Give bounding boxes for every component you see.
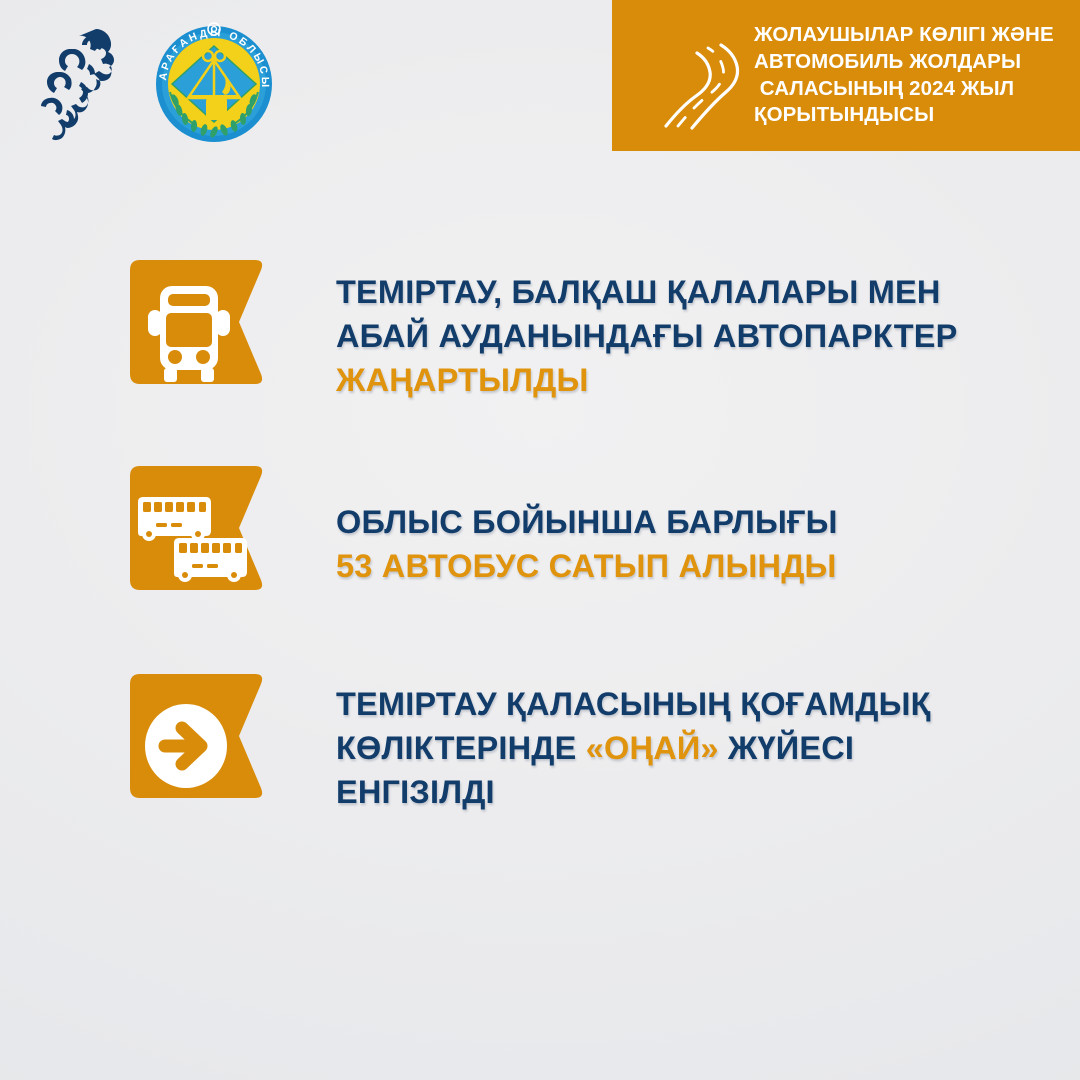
badge-shape [120,672,275,820]
block3-line-2: КӨЛІКТЕРІНДЕ «ОҢАЙ» ЖҮЙЕСІ [336,726,931,770]
stat-block-text: ОБЛЫС БОЙЫНША БАРЛЫҒЫ 53 АВТОБУС САТЫП А… [336,462,838,588]
badge-bus-front [120,258,275,406]
block3-line-2-highlight: «ОҢАЙ» [586,730,719,766]
stat-block-text: ТЕМІРТАУ ҚАЛАСЫНЫҢ ҚОҒАМДЫҚ КӨЛІКТЕРІНДЕ… [336,670,931,815]
logo-group: ҚАРАҒАНДЫ ОБЛЫСЫ [34,18,284,148]
infographic-poster: ҚАРАҒАНДЫ ОБЛЫСЫ ЖОЛАУШЫЛАР КӨЛІГІ ЖӘНЕ … [0,0,1080,1080]
arrow-right-circle-icon [145,704,227,788]
content-blocks: ТЕМІРТАУ, БАЛҚАШ ҚАЛАЛАРЫ МЕН АБАЙ АУДАН… [0,256,1080,880]
badge-arrow [120,672,275,820]
header-banner: ЖОЛАУШЫЛАР КӨЛІГІ ЖӘНЕ АВТОМОБИЛЬ ЖОЛДАР… [612,0,1080,151]
header-title-line-4: ҚОРЫТЫНДЫСЫ [754,102,1054,129]
stat-block: ТЕМІРТАУ, БАЛҚАШ ҚАЛАЛАРЫ МЕН АБАЙ АУДАН… [0,256,1080,406]
block1-line-1: ТЕМІРТАУ, БАЛҚАШ ҚАЛАЛАРЫ МЕН [336,270,958,314]
karaganda-oblast-emblem: ҚАРАҒАНДЫ ОБЛЫСЫ [144,18,284,148]
winding-road-icon [652,20,744,132]
block3-line-3: ЕНГІЗІЛДІ [336,770,931,814]
badge-shape [120,258,275,406]
header-title-line-3: САЛАСЫНЫҢ 2024 ЖЫЛ [754,76,1054,103]
block3-line-2-part-3: ЖҮЙЕСІ [719,730,854,766]
stat-block: ТЕМІРТАУ ҚАЛАСЫНЫҢ ҚОҒАМДЫҚ КӨЛІКТЕРІНДЕ… [0,670,1080,820]
block1-line-2: АБАЙ АУДАНЫНДАҒЫ АВТОПАРКТЕР [336,314,958,358]
block3-line-1: ТЕМІРТАУ ҚАЛАСЫНЫҢ ҚОҒАМДЫҚ [336,682,931,726]
header-title: ЖОЛАУШЫЛАР КӨЛІГІ ЖӘНЕ АВТОМОБИЛЬ ЖОЛДАР… [754,22,1054,129]
stat-block: ОБЛЫС БОЙЫНША БАРЛЫҒЫ 53 АВТОБУС САТЫП А… [0,462,1080,612]
snow-leopard-logo [34,22,126,144]
block3-line-2-part-1: КӨЛІКТЕРІНДЕ [336,730,586,766]
header-title-line-1: ЖОЛАУШЫЛАР КӨЛІГІ ЖӘНЕ [754,22,1054,49]
stat-block-text: ТЕМІРТАУ, БАЛҚАШ ҚАЛАЛАРЫ МЕН АБАЙ АУДАН… [336,256,958,403]
block1-line-3-highlight: ЖАҢАРТЫЛДЫ [336,358,958,402]
block2-line-1: ОБЛЫС БОЙЫНША БАРЛЫҒЫ [336,500,838,544]
badge-shape [120,464,275,612]
block2-line-2-highlight: 53 АВТОБУС САТЫП АЛЫНДЫ [336,544,838,588]
header-title-line-2: АВТОМОБИЛЬ ЖОЛДАРЫ [754,49,1054,76]
badge-two-buses [120,464,275,612]
